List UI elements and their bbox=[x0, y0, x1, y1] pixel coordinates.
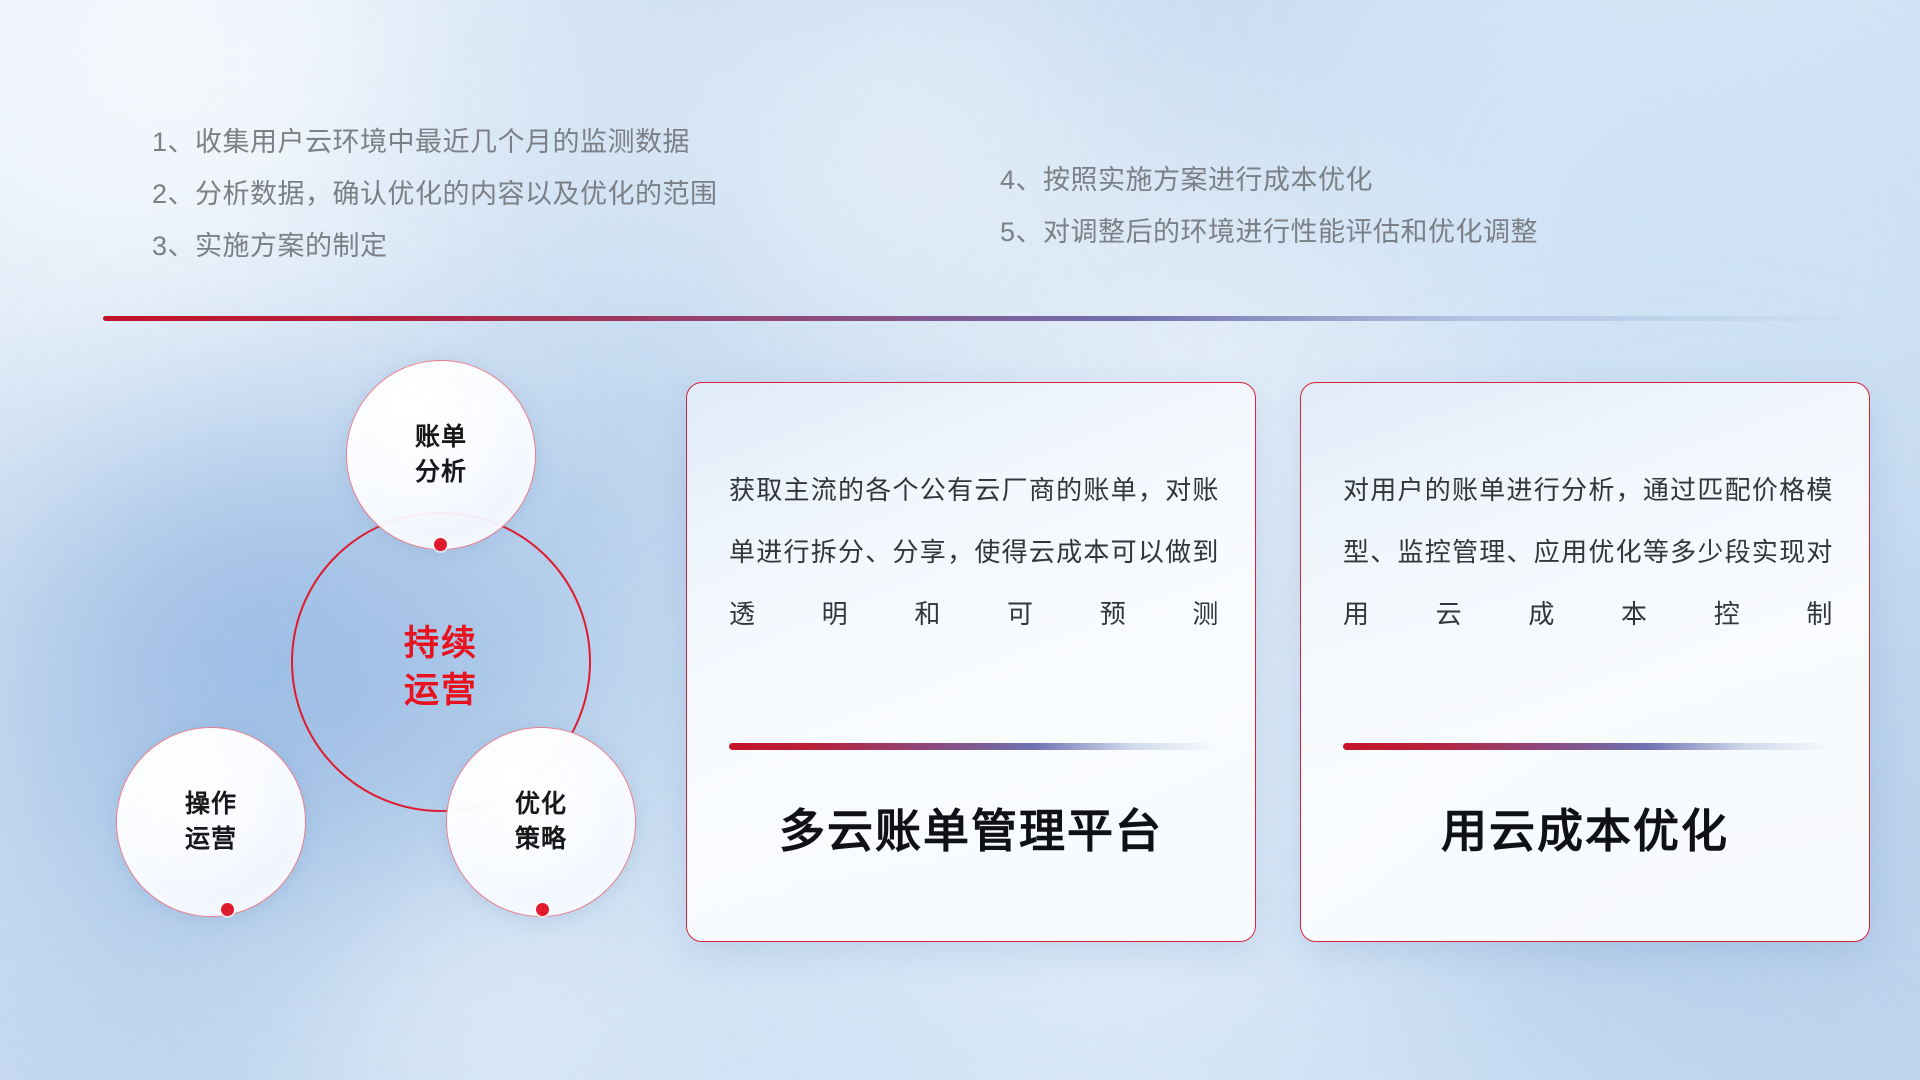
node-label-line2: 分析 bbox=[415, 455, 467, 490]
connector-dot-icon bbox=[221, 903, 234, 916]
card-body-text: 获取主流的各个公有云厂商的账单，对账单进行拆分、分享，使得云成本可以做到透明和可… bbox=[729, 459, 1219, 645]
card-multi-cloud-bill-platform[interactable]: 获取主流的各个公有云厂商的账单，对账单进行拆分、分享，使得云成本可以做到透明和可… bbox=[686, 382, 1256, 942]
steps-right-column: 4、按照实施方案进行成本优化 5、对调整后的环境进行性能评估和优化调整 bbox=[1000, 154, 1538, 258]
connector-dot-icon bbox=[536, 903, 549, 916]
node-label-line1: 账单 bbox=[415, 420, 467, 455]
step-item: 2、分析数据，确认优化的内容以及优化的范围 bbox=[152, 168, 718, 220]
diagram-node-bill-analysis[interactable]: 账单 分析 bbox=[346, 360, 536, 550]
node-label-line1: 优化 bbox=[515, 787, 567, 822]
step-item: 1、收集用户云环境中最近几个月的监测数据 bbox=[152, 116, 718, 168]
card-divider bbox=[1343, 743, 1833, 750]
center-label-line1: 持续 bbox=[291, 620, 591, 667]
card-body-text: 对用户的账单进行分析，通过匹配价格模型、监控管理、应用优化等多少段实现对用云成本… bbox=[1343, 459, 1833, 645]
node-label: 优化 策略 bbox=[515, 787, 567, 857]
diagram-node-operations[interactable]: 操作 运营 bbox=[116, 727, 306, 917]
center-label-line2: 运营 bbox=[291, 667, 591, 714]
node-label-line1: 操作 bbox=[185, 787, 237, 822]
node-label-line2: 策略 bbox=[515, 822, 567, 857]
node-label: 账单 分析 bbox=[415, 420, 467, 490]
card-title: 多云账单管理平台 bbox=[687, 795, 1255, 861]
connector-dot-icon bbox=[434, 538, 447, 551]
continuous-operation-diagram: 持续 运营 账单 分析 操作 运营 优化 策略 bbox=[96, 350, 656, 950]
step-item: 3、实施方案的制定 bbox=[152, 220, 718, 272]
card-cloud-cost-optimization[interactable]: 对用户的账单进行分析，通过匹配价格模型、监控管理、应用优化等多少段实现对用云成本… bbox=[1300, 382, 1870, 942]
step-item: 5、对调整后的环境进行性能评估和优化调整 bbox=[1000, 206, 1538, 258]
diagram-node-optimization-strategy[interactable]: 优化 策略 bbox=[446, 727, 636, 917]
section-divider bbox=[103, 316, 1868, 321]
steps-left-column: 1、收集用户云环境中最近几个月的监测数据 2、分析数据，确认优化的内容以及优化的… bbox=[152, 116, 718, 272]
diagram-center-label: 持续 运营 bbox=[291, 620, 591, 714]
node-label: 操作 运营 bbox=[185, 787, 237, 857]
card-title: 用云成本优化 bbox=[1301, 795, 1869, 861]
node-label-line2: 运营 bbox=[185, 822, 237, 857]
card-divider bbox=[729, 743, 1219, 750]
step-item: 4、按照实施方案进行成本优化 bbox=[1000, 154, 1538, 206]
